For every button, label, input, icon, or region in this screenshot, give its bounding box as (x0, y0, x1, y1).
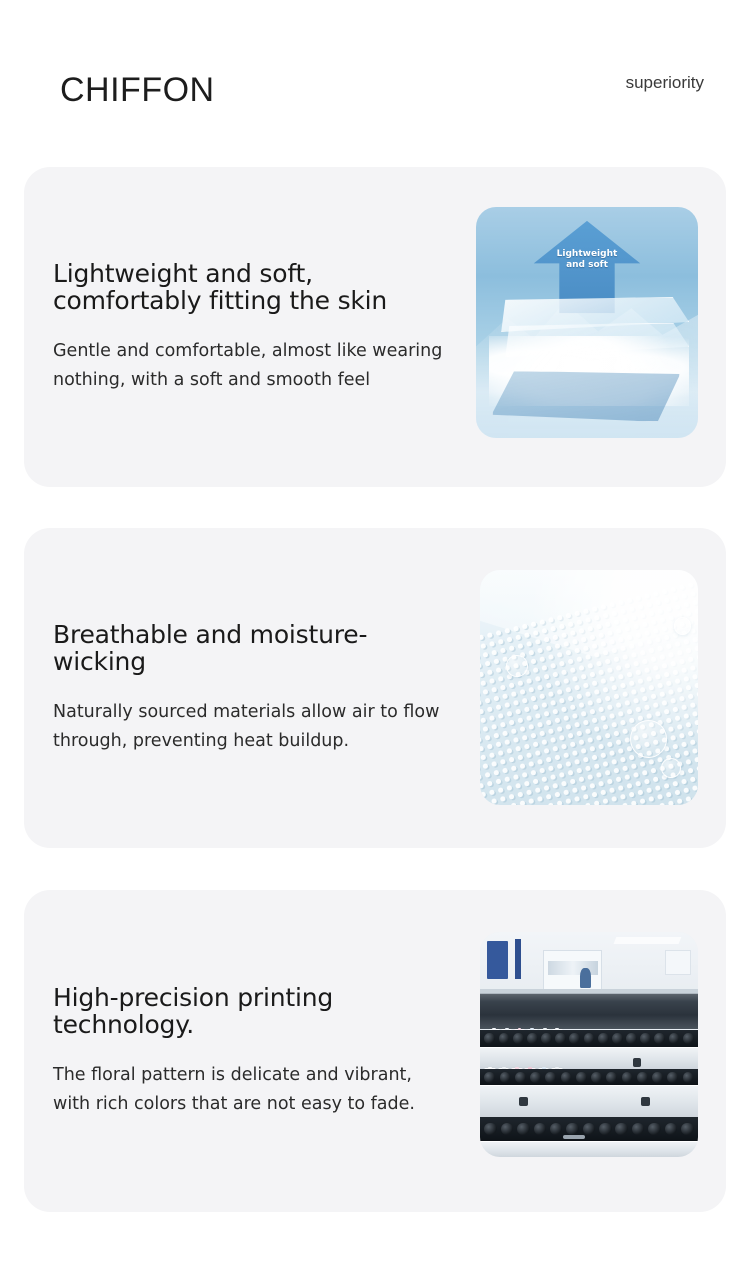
breathable-mesh-fabric-image (480, 570, 698, 805)
feature-card-title: High-precision printing technology. (53, 984, 448, 1038)
printer-roller (637, 1072, 648, 1083)
printer-gantry-bar (480, 993, 698, 1029)
printer-roller (534, 1123, 547, 1136)
arrow-label-lightweight-and-soft: Lightweightand soft (534, 249, 641, 271)
printer-roller (584, 1033, 595, 1044)
printer-deck-panel (480, 1047, 698, 1070)
printer-roller (640, 1033, 651, 1044)
printer-roller-row (480, 1070, 698, 1084)
feature-card-text: Breathable and moisture-wicking Naturall… (53, 528, 448, 848)
feature-card-text: Lightweight and soft, comfortably fittin… (53, 167, 448, 487)
factory-side-board (665, 950, 691, 975)
printer-control-knob (641, 1097, 650, 1106)
printer-roller (500, 1072, 511, 1083)
printer-roller (517, 1123, 530, 1136)
water-bubble-icon (661, 758, 681, 778)
printer-roller (527, 1033, 538, 1044)
water-bubble-icon (674, 617, 691, 635)
factory-ceiling-light (614, 937, 682, 944)
fabric-base-plate (492, 371, 681, 422)
feature-card-description: Naturally sourced materials allow air to… (53, 698, 448, 755)
printer-roller (566, 1123, 579, 1136)
printer-roller (648, 1123, 661, 1136)
printer-roller (583, 1123, 596, 1136)
printer-roller-row (480, 1119, 698, 1139)
printer-roller (550, 1123, 563, 1136)
factory-blue-panel (487, 941, 509, 979)
feature-card: Lightweight and soft, comfortably fittin… (24, 167, 726, 487)
layered-lightweight-fabric-image: Lightweightand soft (476, 207, 698, 438)
printer-roller (669, 1033, 680, 1044)
printer-roller (515, 1072, 526, 1083)
printer-label-plate (563, 1135, 585, 1140)
printer-roller (598, 1033, 609, 1044)
feature-card-description: The floral pattern is delicate and vibra… (53, 1061, 448, 1118)
printer-roller (683, 1072, 694, 1083)
feature-card-text: High-precision printing technology. The … (53, 890, 448, 1212)
mesh-fabric-illustration (480, 570, 698, 805)
printer-roller (561, 1072, 572, 1083)
printer-roller (622, 1072, 633, 1083)
fabric-layers-illustration: Lightweightand soft (476, 207, 698, 438)
printer-roller (501, 1123, 514, 1136)
printer-roller (484, 1072, 495, 1083)
printer-deck-panel (480, 1141, 698, 1157)
factory-blue-strip (515, 939, 522, 980)
printer-roller (599, 1123, 612, 1136)
printer-deck-panel (480, 1085, 698, 1117)
printer-roller (626, 1033, 637, 1044)
feature-card-title: Lightweight and soft, comfortably fittin… (53, 260, 448, 314)
feature-card: Breathable and moisture-wicking Naturall… (24, 528, 726, 848)
printer-roller (652, 1072, 663, 1083)
printer-roller (545, 1072, 556, 1083)
printer-roller (615, 1123, 628, 1136)
printer-roller (681, 1123, 694, 1136)
printer-roller (654, 1033, 665, 1044)
printer-roller-row (480, 1032, 698, 1046)
printer-roller (484, 1033, 495, 1044)
digital-printing-machine-image (480, 932, 698, 1157)
feature-card: High-precision printing technology. The … (24, 890, 726, 1212)
printing-machine-illustration (480, 932, 698, 1157)
feature-card-description: Gentle and comfortable, almost like wear… (53, 337, 448, 394)
printer-roller (541, 1033, 552, 1044)
factory-operator (580, 968, 591, 988)
printer-roller (612, 1033, 623, 1044)
printer-roller (591, 1072, 602, 1083)
page-header: CHIFFON superiority (0, 0, 750, 167)
printer-control-knob (633, 1058, 642, 1067)
printer-roller (484, 1123, 497, 1136)
printer-roller (683, 1033, 694, 1044)
printer-roller (576, 1072, 587, 1083)
printer-roller (632, 1123, 645, 1136)
printer-roller (513, 1033, 524, 1044)
printer-roller (499, 1033, 510, 1044)
printer-roller (606, 1072, 617, 1083)
feature-card-title: Breathable and moisture-wicking (53, 621, 448, 675)
printer-roller (530, 1072, 541, 1083)
printer-roller (569, 1033, 580, 1044)
printer-control-knob (519, 1097, 528, 1106)
printer-roller (667, 1072, 678, 1083)
page-title: CHIFFON (60, 73, 215, 107)
printer-roller (555, 1033, 566, 1044)
product-feature-page: CHIFFON superiority Lightweight and soft… (0, 0, 750, 1273)
printer-roller (665, 1123, 678, 1136)
section-label-superiority: superiority (626, 74, 704, 91)
water-bubble-icon (506, 655, 528, 677)
